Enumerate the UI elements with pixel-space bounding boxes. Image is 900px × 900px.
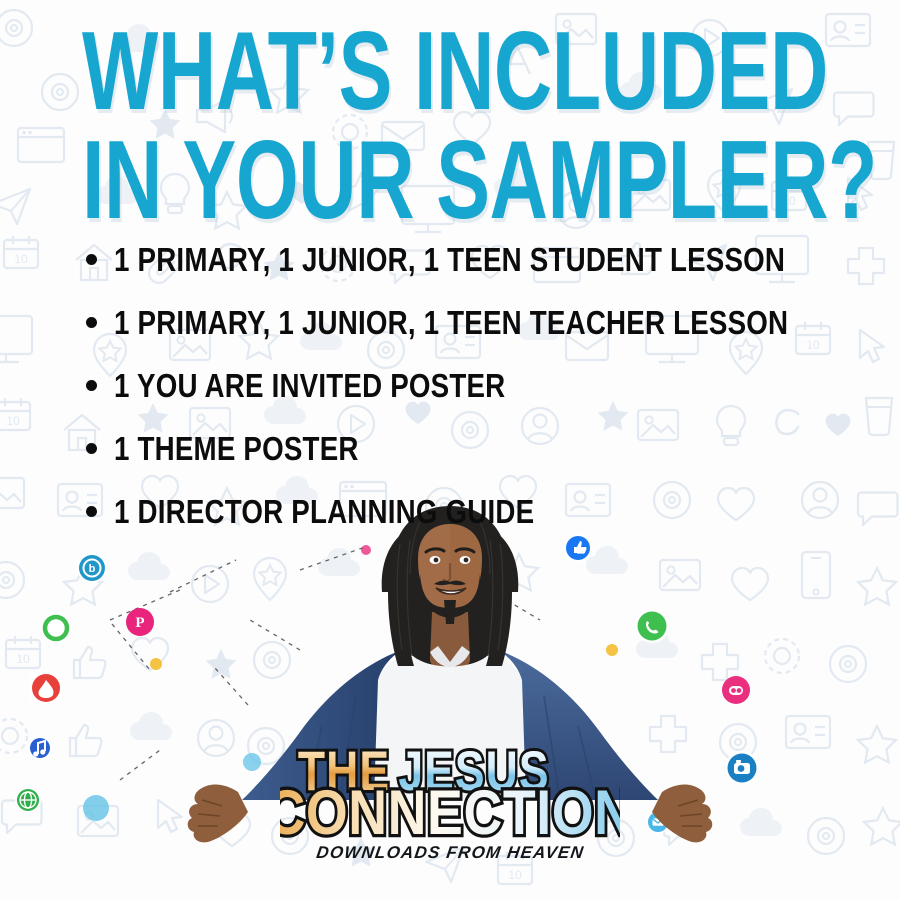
list-item-label: 1 PRIMARY, 1 JUNIOR, 1 TEEN STUDENT LESS… — [114, 240, 785, 278]
list-item-label: 1 DIRECTOR PLANNING GUIDE — [114, 492, 534, 530]
headline-line-2: IN YOUR SAMPLER? — [82, 131, 877, 232]
list-item-label: 1 THEME POSTER — [114, 429, 359, 467]
list-item: 1 DIRECTOR PLANNING GUIDE — [86, 480, 795, 543]
page-title: WHAT’S INCLUDED IN YOUR SAMPLER? — [82, 22, 900, 209]
logo-tagline: DOWNLOADS FROM HEAVEN — [315, 843, 585, 862]
bullet-dot-icon — [86, 506, 97, 517]
whatsapp-icon — [635, 609, 669, 643]
list-item: 1 YOU ARE INVITED POSTER — [86, 354, 795, 417]
list-item: 1 PRIMARY, 1 JUNIOR, 1 TEEN STUDENT LESS… — [86, 228, 795, 291]
included-items-list: 1 PRIMARY, 1 JUNIOR, 1 TEEN STUDENT LESS… — [86, 228, 795, 543]
list-item: 1 PRIMARY, 1 JUNIOR, 1 TEEN TEACHER LESS… — [86, 291, 795, 354]
badge-icon: b — [77, 553, 107, 583]
dot-yellow-icon — [150, 658, 162, 670]
bullet-dot-icon — [86, 317, 97, 328]
camera-pink-icon — [722, 676, 750, 704]
logo-word-connection: CONNECTION — [280, 778, 620, 848]
list-item-label: 1 PRIMARY, 1 JUNIOR, 1 TEEN TEACHER LESS… — [114, 303, 788, 341]
brand-logo: THE JESUS CONNECTION DOWNLOADS FROM HEAV… — [0, 748, 900, 868]
poster-canvas: 10 — [0, 0, 900, 900]
dot-pink-icon — [361, 545, 371, 555]
bullet-dot-icon — [86, 443, 97, 454]
svg-text:P: P — [135, 615, 144, 631]
headline-line-1: WHAT’S INCLUDED — [82, 22, 877, 123]
list-item: 1 THEME POSTER — [86, 417, 795, 480]
spotify-icon — [43, 615, 69, 641]
flame-icon — [29, 671, 63, 705]
bullet-dot-icon — [86, 380, 97, 391]
svg-text:b: b — [89, 563, 96, 575]
bullet-dot-icon — [86, 254, 97, 265]
list-item-label: 1 YOU ARE INVITED POSTER — [114, 366, 505, 404]
dot-yellow-icon — [606, 644, 618, 656]
pinterest-icon: P — [126, 608, 154, 636]
